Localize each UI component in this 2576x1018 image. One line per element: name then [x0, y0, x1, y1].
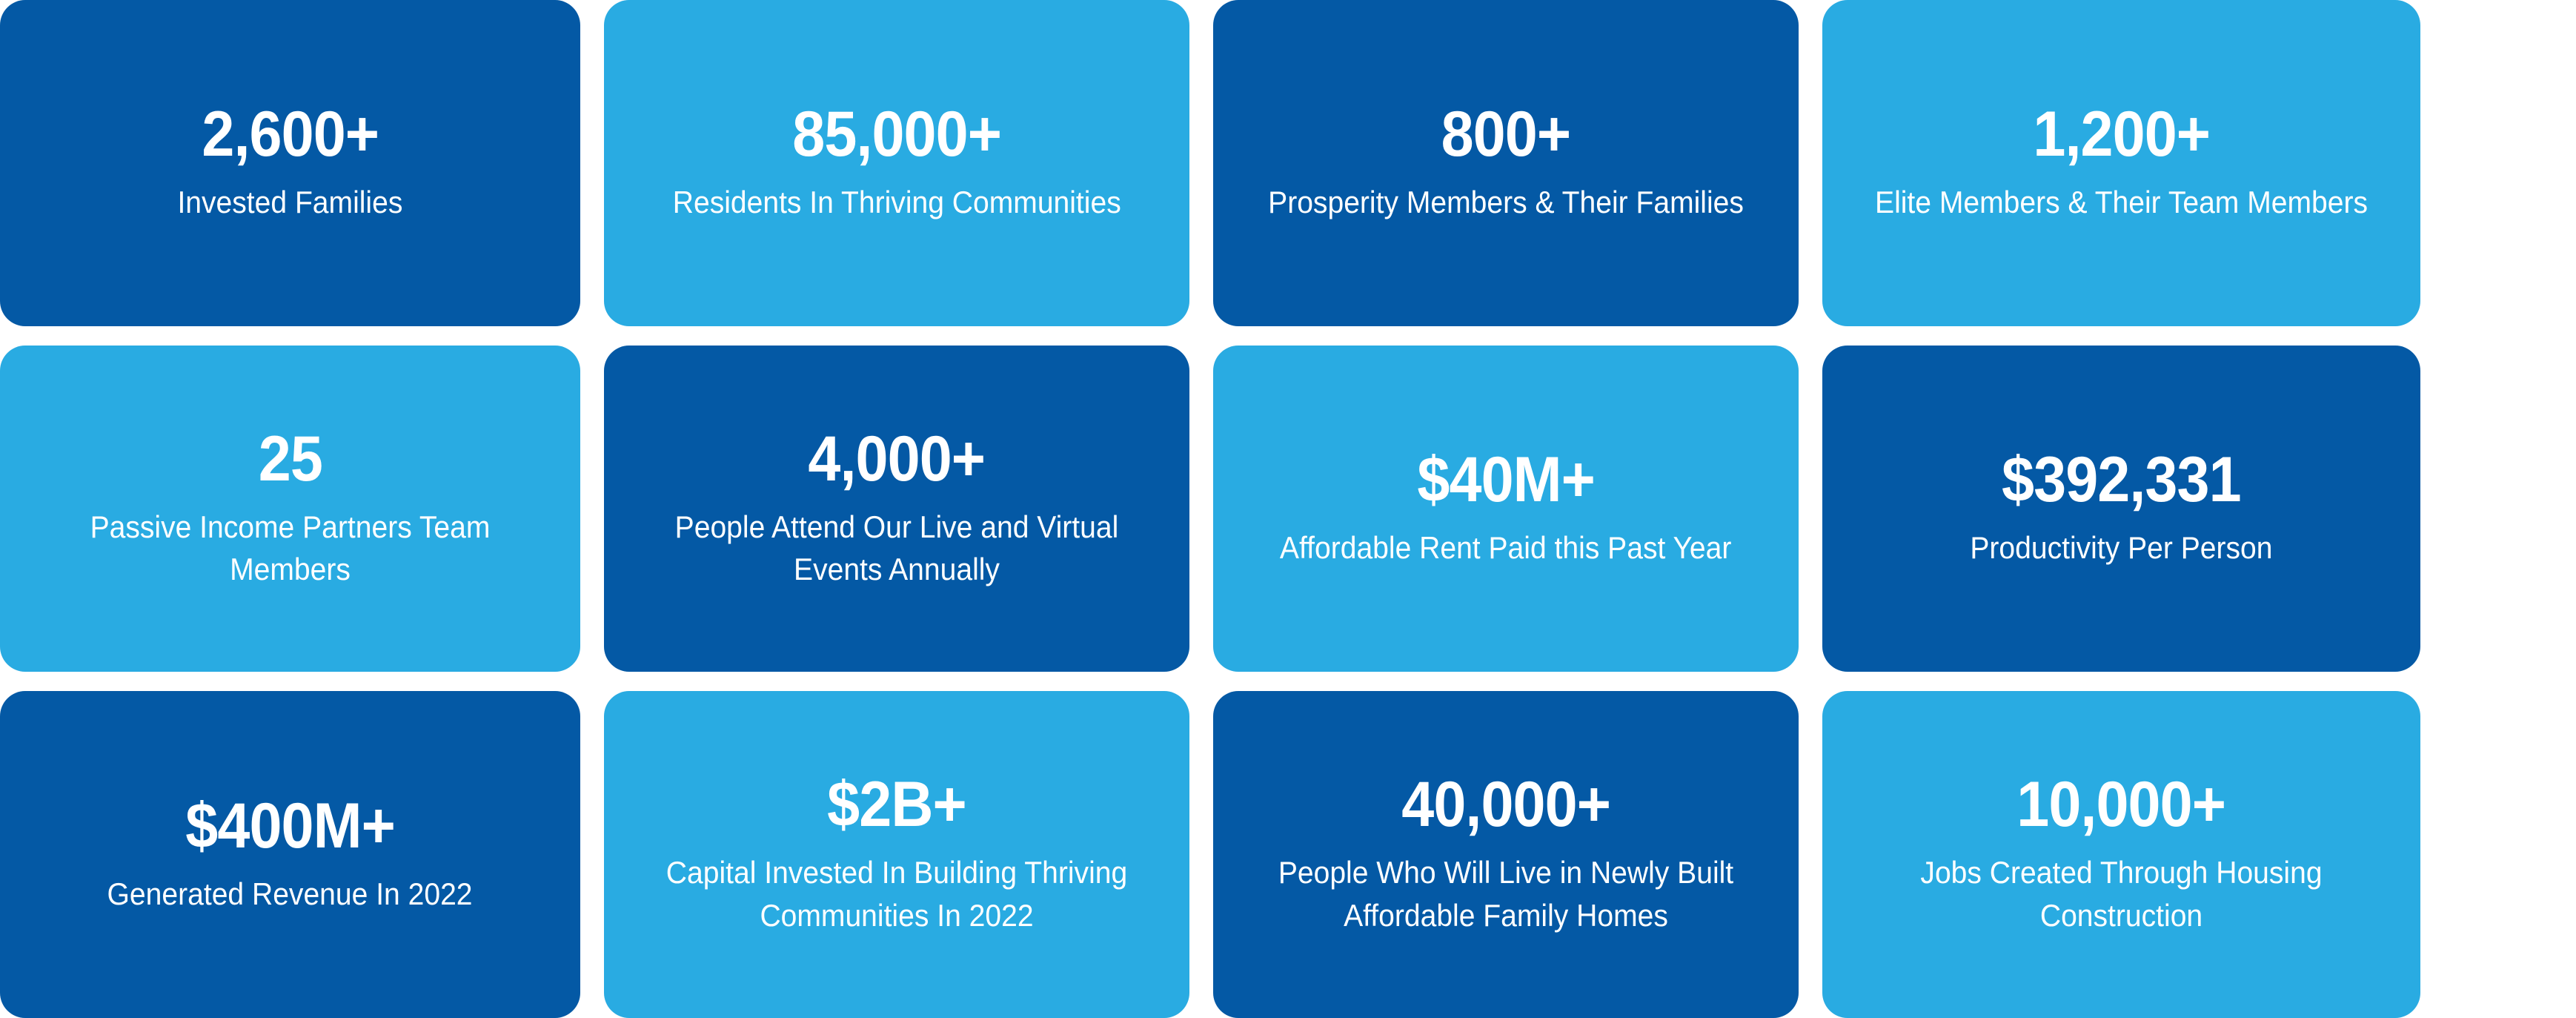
stat-card-prosperity-members[interactable]: 800+ Prosperity Members & Their Families [1213, 0, 1799, 326]
stat-value: $400M+ [185, 794, 395, 858]
stat-card-elite-members[interactable]: 1,200+ Elite Members & Their Team Member… [1822, 0, 2420, 326]
stat-label: Affordable Rent Paid this Past Year [1280, 526, 1731, 569]
stat-card-people-in-new-homes[interactable]: 40,000+ People Who Will Live in Newly Bu… [1213, 691, 1799, 1018]
stats-grid: 2,600+ Invested Families 85,000+ Residen… [0, 0, 2576, 1018]
stat-label: Prosperity Members & Their Families [1268, 181, 1744, 223]
stat-card-capital-invested[interactable]: $2B+ Capital Invested In Building Thrivi… [604, 691, 1189, 1018]
stat-card-productivity-per-person[interactable]: $392,331 Productivity Per Person [1822, 346, 2420, 672]
stat-card-residents-in-thriving-communities[interactable]: 85,000+ Residents In Thriving Communitie… [604, 0, 1189, 326]
stat-label: People Who Will Live in Newly Built Affo… [1257, 851, 1754, 936]
stat-label: People Attend Our Live and Virtual Event… [648, 506, 1145, 590]
stat-value: 25 [258, 427, 322, 491]
stat-value: 4,000+ [809, 427, 986, 491]
stat-card-passive-income-partners-team[interactable]: 25 Passive Income Partners Team Members [0, 346, 580, 672]
stat-card-jobs-created[interactable]: 10,000+ Jobs Created Through Housing Con… [1822, 691, 2420, 1018]
stat-label: Invested Families [178, 181, 403, 223]
stat-label: Passive Income Partners Team Members [44, 506, 537, 590]
stat-value: $40M+ [1417, 448, 1595, 512]
stat-label: Productivity Per Person [1970, 526, 2272, 569]
stat-value: $2B+ [827, 773, 966, 836]
stat-card-invested-families[interactable]: 2,600+ Invested Families [0, 0, 580, 326]
stat-value: $392,331 [2002, 448, 2241, 512]
stat-value: 40,000+ [1401, 773, 1610, 836]
stat-label: Capital Invested In Building Thriving Co… [648, 851, 1145, 936]
stat-card-affordable-rent-paid[interactable]: $40M+ Affordable Rent Paid this Past Yea… [1213, 346, 1799, 672]
stat-label: Elite Members & Their Team Members [1875, 181, 2368, 223]
stat-value: 10,000+ [2017, 773, 2226, 836]
stat-card-event-attendance[interactable]: 4,000+ People Attend Our Live and Virtua… [604, 346, 1189, 672]
stat-card-generated-revenue[interactable]: $400M+ Generated Revenue In 2022 [0, 691, 580, 1018]
stat-value: 1,200+ [2033, 102, 2210, 166]
stat-label: Jobs Created Through Housing Constructio… [1867, 851, 2376, 936]
stat-label: Generated Revenue In 2022 [107, 873, 473, 915]
stat-value: 2,600+ [202, 102, 379, 166]
stat-value: 85,000+ [792, 102, 1001, 166]
stat-value: 800+ [1441, 102, 1571, 166]
stat-label: Residents In Thriving Communities [673, 181, 1121, 223]
